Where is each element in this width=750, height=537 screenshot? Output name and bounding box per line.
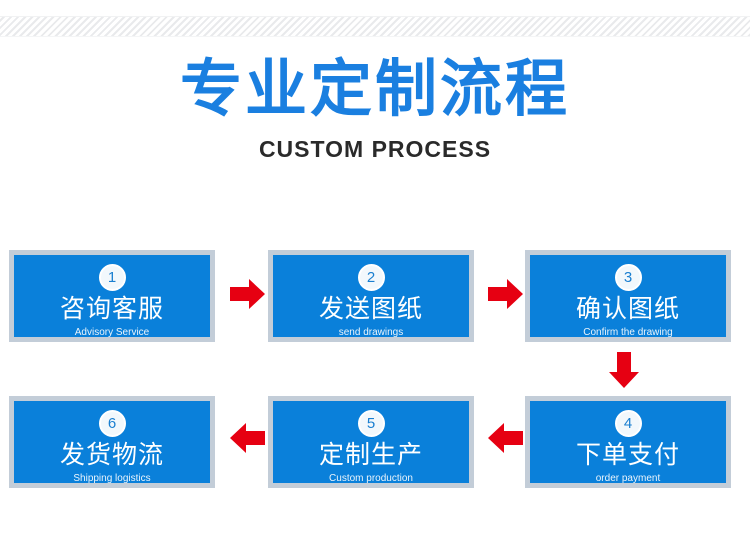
step-number-badge-2: 2 (358, 264, 385, 291)
step-label-en-2: send drawings (339, 326, 403, 339)
step-number-badge-4: 4 (615, 410, 642, 437)
arrow-right-icon-step1-to-step2 (230, 276, 266, 312)
decorative-stripe-band (0, 16, 750, 37)
step-label-cn-6: 发货物流 (60, 439, 164, 471)
page-heading: 专业定制流程 CUSTOM PROCESS (0, 52, 750, 164)
step-label-en-4: order payment (596, 472, 660, 485)
step-label-cn-4: 下单支付 (576, 439, 680, 471)
step-label-en-5: Custom production (329, 472, 413, 485)
step-label-en-6: Shipping logistics (73, 472, 150, 485)
arrow-right-icon-step2-to-step3 (488, 276, 524, 312)
step-label-cn-1: 咨询客服 (60, 293, 164, 325)
step-number-badge-5: 5 (358, 410, 385, 437)
step-card-4[interactable]: 4 下单支付 order payment (525, 396, 731, 488)
step-label-en-1: Advisory Service (75, 326, 149, 339)
page-title-english: CUSTOM PROCESS (0, 134, 750, 164)
process-row-top: 1 咨询客服 Advisory Service 2 发送图纸 send draw… (0, 244, 750, 349)
step-card-5[interactable]: 5 定制生产 Custom production (268, 396, 474, 488)
step-card-1[interactable]: 1 咨询客服 Advisory Service (9, 250, 215, 342)
step-label-cn-3: 确认图纸 (576, 293, 680, 325)
step-label-cn-5: 定制生产 (319, 439, 423, 471)
step-number-badge-1: 1 (99, 264, 126, 291)
page-title-chinese: 专业定制流程 (0, 52, 750, 126)
arrow-left-icon-step4-to-step5 (486, 420, 524, 456)
step-number-badge-6: 6 (99, 410, 126, 437)
step-label-en-3: Confirm the drawing (583, 326, 672, 339)
step-number-badge-3: 3 (615, 264, 642, 291)
arrow-left-icon-step5-to-step6 (228, 420, 266, 456)
step-card-2[interactable]: 2 发送图纸 send drawings (268, 250, 474, 342)
step-card-3[interactable]: 3 确认图纸 Confirm the drawing (525, 250, 731, 342)
arrow-down-icon-step3-to-step4 (606, 352, 642, 390)
process-row-bottom: 6 发货物流 Shipping logistics 5 定制生产 Custom … (0, 390, 750, 495)
step-label-cn-2: 发送图纸 (319, 293, 423, 325)
step-card-6[interactable]: 6 发货物流 Shipping logistics (9, 396, 215, 488)
